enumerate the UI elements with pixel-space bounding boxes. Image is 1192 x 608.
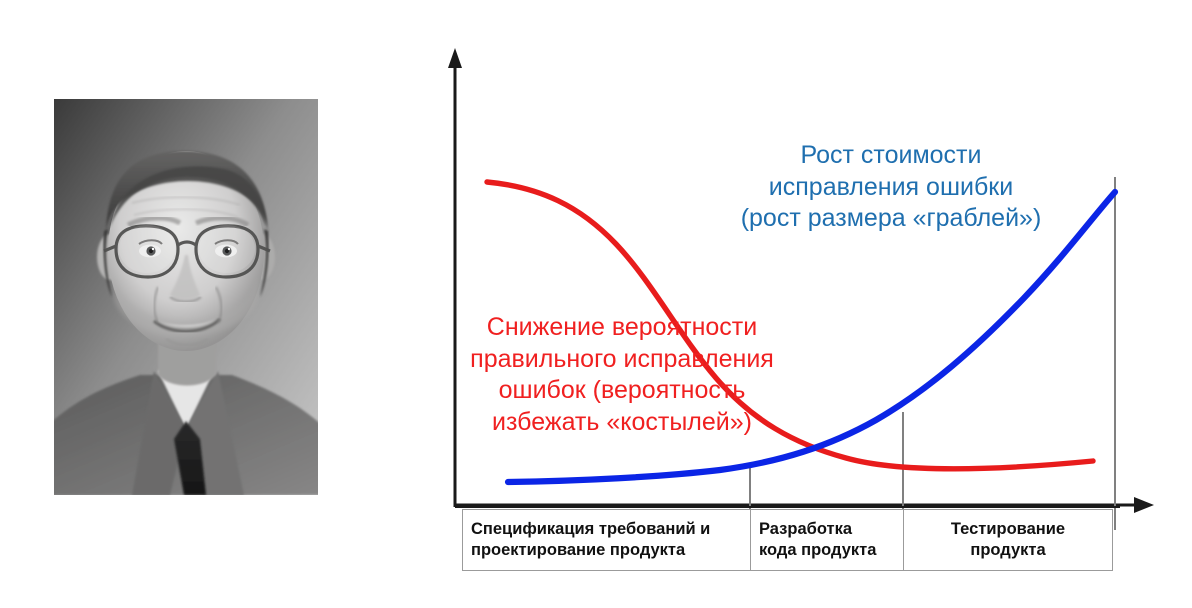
annotation-prob-line-4: избежать «костылей»)	[448, 407, 796, 439]
phase-3-line-2: продукта	[912, 540, 1104, 561]
annotation-cost-line-1: Рост стоимости	[700, 140, 1082, 172]
slide-root: Рост стоимости исправления ошибки (рост …	[0, 0, 1192, 608]
phase-cell-specification: Спецификация требований и проектирование…	[463, 510, 751, 570]
phase-cell-development: Разработка кода продукта	[751, 510, 904, 570]
phase-cell-testing: Тестирование продукта	[904, 510, 1112, 570]
phase-2-line-1: Разработка	[759, 519, 895, 540]
phase-2-line-2: кода продукта	[759, 540, 895, 561]
annotation-prob-line-1: Снижение вероятности	[448, 312, 796, 344]
phase-1-line-1: Спецификация требований и	[471, 519, 742, 540]
phase-3-line-1: Тестирование	[912, 519, 1104, 540]
phase-table: Спецификация требований и проектирование…	[462, 509, 1113, 571]
cost-of-defect-chart	[430, 30, 1175, 530]
annotation-cost-line-3: (рост размера «граблей»)	[700, 203, 1082, 235]
y-axis	[448, 48, 462, 507]
annotation-probability-decline: Снижение вероятности правильного исправл…	[448, 312, 796, 438]
portrait-photo	[54, 99, 318, 495]
annotation-prob-line-2: правильного исправления	[448, 344, 796, 376]
annotation-cost-line-2: исправления ошибки	[700, 172, 1082, 204]
phase-1-line-2: проектирование продукта	[471, 540, 742, 561]
annotation-prob-line-3: ошибок (вероятность	[448, 375, 796, 407]
annotation-cost-growth: Рост стоимости исправления ошибки (рост …	[700, 140, 1082, 235]
